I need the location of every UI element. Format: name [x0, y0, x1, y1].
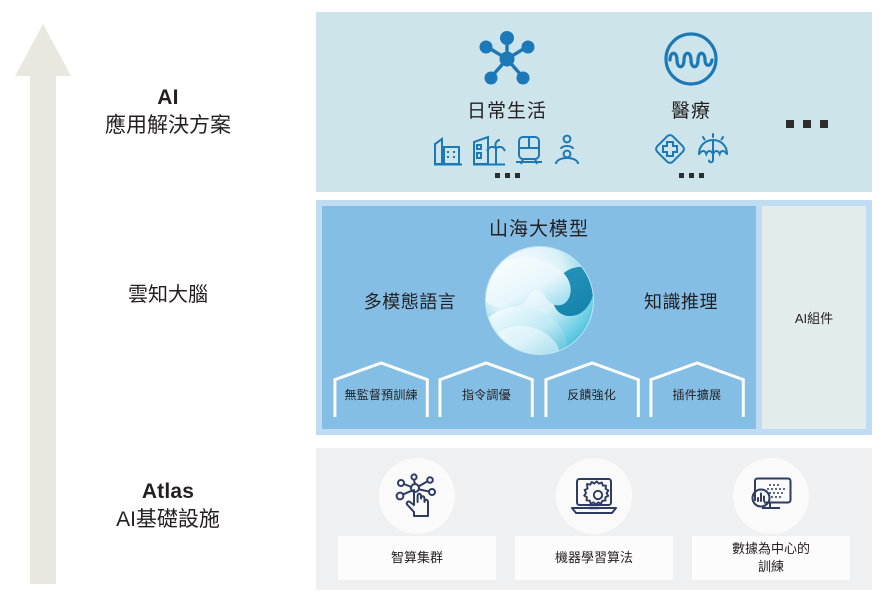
ai-components-label: AI組件 — [795, 308, 833, 327]
brain-stage-label: 反饋強化 — [543, 386, 641, 403]
brain-core-area: 山海大模型 — [322, 206, 756, 429]
brain-stage-label: 指令調優 — [437, 386, 535, 403]
brain-stage-item[interactable]: 反饋強化 — [543, 359, 641, 421]
people-group-icon — [552, 134, 582, 171]
atlas-card[interactable]: 數據為中心的 訓練 — [692, 458, 850, 580]
app-group-medical: 醫療 — [616, 28, 766, 178]
brain-stage-label: 插件擴展 — [648, 386, 746, 403]
resort-building-palm-icon — [472, 134, 506, 171]
atlas-card-label: 數據為中心的 訓練 — [692, 536, 850, 580]
tier-label-applications-line2: 應用解決方案 — [38, 112, 298, 140]
app-group-medical-title: 醫療 — [616, 96, 766, 123]
atlas-card[interactable]: 機器學習算法 — [515, 458, 673, 580]
atlas-card-label: 機器學習算法 — [515, 536, 673, 580]
tier-label-brain: 雲知大腦 — [38, 282, 298, 308]
panel-atlas-infrastructure: 智算集群 機器學習算法 — [316, 448, 872, 590]
brain-stage-item[interactable]: 無監督預訓練 — [332, 359, 430, 421]
panel-ai-applications: 日常生活 — [316, 12, 872, 192]
brain-stage-item[interactable]: 指令調優 — [437, 359, 535, 421]
train-icon — [515, 134, 543, 171]
app-group-daily-life-title: 日常生活 — [412, 96, 602, 123]
hand-touch-network-icon — [379, 458, 455, 534]
panel-cloud-brain: 山海大模型 — [316, 200, 872, 435]
tier-label-applications: AI 應用解決方案 — [38, 84, 298, 139]
shanhai-wave-sphere-logo — [483, 244, 596, 357]
brain-capability-right: 知識推理 — [616, 288, 746, 314]
tier-label-brain-line2: 雲知大腦 — [38, 282, 298, 308]
brain-stage-list: 無監督預訓練 指令調優 反饋強化 — [332, 359, 746, 421]
brain-capability-left: 多模態語言 — [340, 288, 480, 314]
tier-label-atlas-line2: AI基礎設施 — [38, 506, 298, 534]
app-group-daily-life: 日常生活 — [412, 28, 602, 178]
monitor-data-chart-icon — [733, 458, 809, 534]
tier-label-applications-line1: AI — [38, 84, 298, 112]
brain-stage-item[interactable]: 插件擴展 — [648, 359, 746, 421]
circle-pulse-wave-icon — [616, 28, 766, 90]
apps-more-ellipsis — [786, 120, 828, 128]
brain-stage-label: 無監督預訓練 — [332, 386, 430, 403]
infographic-root: AI 應用解決方案 雲知大腦 Atlas AI基礎設施 — [0, 0, 885, 598]
network-nodes-icon — [412, 28, 602, 90]
brain-model-title: 山海大模型 — [322, 214, 756, 241]
tier-label-atlas-line1: Atlas — [38, 478, 298, 506]
ai-components-panel[interactable]: AI組件 — [762, 206, 866, 429]
app-group-daily-life-ellipsis — [412, 173, 602, 178]
atlas-card[interactable]: 智算集群 — [338, 458, 496, 580]
laptop-gears-icon — [556, 458, 632, 534]
atlas-card-label: 智算集群 — [338, 536, 496, 580]
app-group-medical-ellipsis — [616, 173, 766, 178]
tier-label-atlas: Atlas AI基礎設施 — [38, 478, 298, 533]
city-buildings-icon — [433, 134, 463, 171]
medical-cross-diamond-icon — [653, 132, 687, 171]
umbrella-icon — [696, 132, 730, 171]
